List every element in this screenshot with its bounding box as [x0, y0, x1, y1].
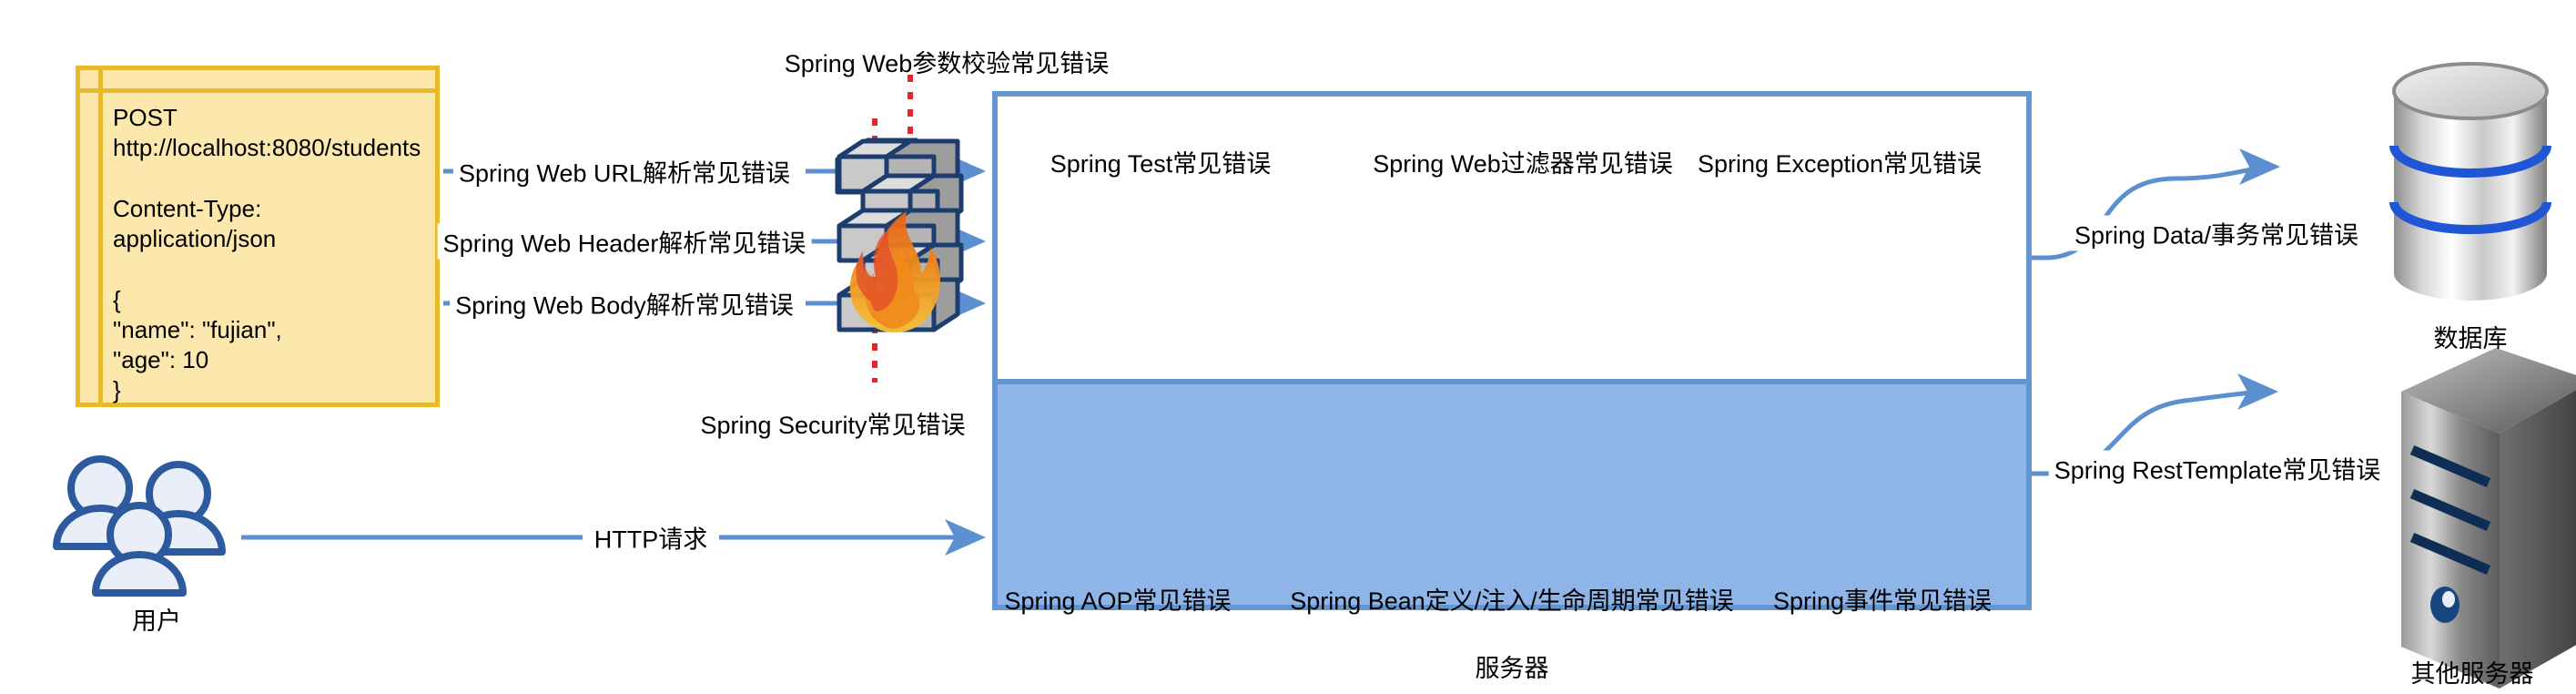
note-body-text: POST http://localhost:8080/students Cont…	[113, 103, 422, 406]
server-bottom-panel	[998, 379, 2026, 605]
server-top-panel	[998, 97, 2026, 379]
arrow-label-spring-data: Spring Data/事务常见错误	[2069, 216, 2364, 251]
firewall-brick-flame-icon	[837, 140, 961, 332]
tile-title-spring-test: Spring Test常见错误	[1050, 144, 1272, 179]
http-request-label: HTTP请求	[589, 520, 714, 556]
users-caption: 用户	[132, 601, 181, 637]
arrow-label-body-parse: Spring Web Body解析常见错误	[450, 286, 799, 321]
note-top-strip	[80, 88, 435, 93]
database-cylinder-icon	[2394, 64, 2547, 301]
arrow-label-header-parse: Spring Web Header解析常见错误	[438, 224, 812, 260]
http-request-note: POST http://localhost:8080/students Cont…	[76, 66, 440, 407]
note-left-gutter	[98, 70, 103, 403]
security-annotation-label: Spring Security常见错误	[700, 405, 965, 441]
other-server-caption: 其他服务器	[2411, 654, 2534, 689]
tile-title-spring-exception: Spring Exception常见错误	[1698, 144, 1982, 179]
server-tower-icon	[2401, 348, 2576, 689]
server-caption: 服务器	[1476, 648, 1549, 684]
users-group-icon	[56, 459, 222, 593]
database-caption: 数据库	[2434, 319, 2508, 354]
bottom-label-spring-bean: Spring Bean定义/注入/生命周期常见错误	[1290, 581, 1734, 617]
tile-title-spring-web-filter: Spring Web过滤器常见错误	[1373, 144, 1673, 179]
bottom-label-spring-event: Spring事件常见错误	[1773, 581, 1992, 617]
diagram-canvas: POST http://localhost:8080/students Cont…	[0, 0, 2576, 694]
arrow-label-url-parse: Spring Web URL解析常见错误	[453, 154, 796, 189]
bottom-label-spring-aop: Spring AOP常见错误	[1004, 581, 1231, 617]
validation-annotation-label: Spring Web参数校验常见错误	[785, 44, 1110, 79]
arrow-label-spring-resttemplate: Spring RestTemplate常见错误	[2049, 451, 2387, 486]
